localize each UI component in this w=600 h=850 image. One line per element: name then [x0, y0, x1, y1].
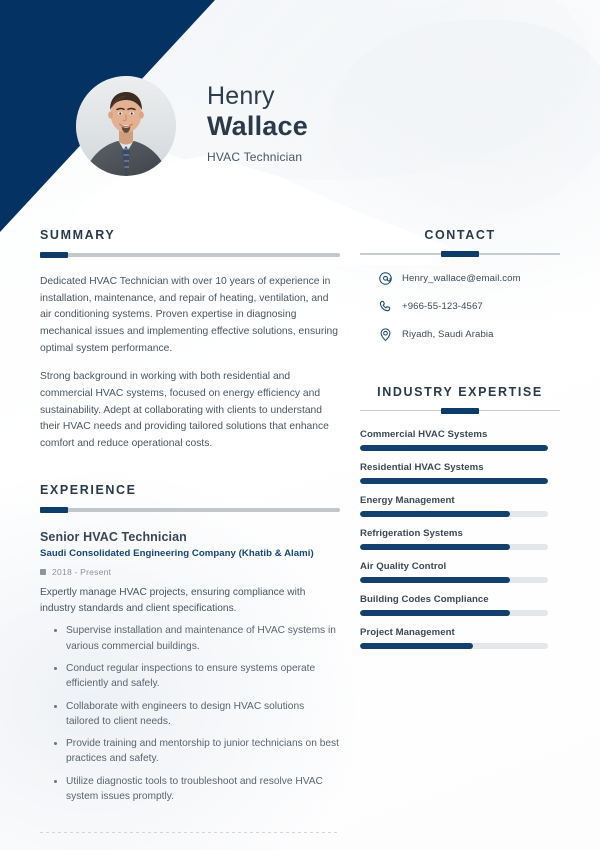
- skill-bar-fill: [360, 610, 510, 616]
- skill-bar-track: [360, 445, 548, 451]
- list-item: Utilize diagnostic tools to troubleshoot…: [66, 774, 340, 805]
- skill-bar-track: [360, 478, 548, 484]
- skill-item: Energy Management: [360, 495, 560, 517]
- skill-bar-fill: [360, 577, 510, 583]
- list-item: Conduct regular inspections to ensure sy…: [66, 661, 340, 692]
- experience-date-row: 2018 - Present: [40, 567, 340, 577]
- experience-divider: [40, 508, 340, 512]
- first-name: Henry: [207, 82, 308, 111]
- avatar: [76, 76, 176, 176]
- skill-bar-fill: [360, 643, 473, 649]
- experience-intro: Expertly manage HVAC projects, ensuring …: [40, 585, 340, 617]
- expertise-section-title: INDUSTRY EXPERTISE: [360, 385, 560, 399]
- contact-value: Henry_wallace@email.com: [402, 273, 521, 284]
- experience-company: Saudi Consolidated Engineering Company (…: [40, 548, 340, 559]
- email-icon: [378, 271, 393, 286]
- skill-label: Energy Management: [360, 495, 560, 506]
- skill-bar-fill: [360, 544, 510, 550]
- summary-divider: [40, 253, 340, 257]
- skill-bar-fill: [360, 511, 510, 517]
- contact-item-location[interactable]: Riyadh, Saudi Arabia: [360, 327, 560, 342]
- summary-paragraph: Dedicated HVAC Technician with over 10 y…: [40, 274, 340, 357]
- skill-label: Commercial HVAC Systems: [360, 429, 560, 440]
- summary-section-title: SUMMARY: [40, 228, 340, 242]
- summary-body: Dedicated HVAC Technician with over 10 y…: [40, 274, 340, 453]
- experience-entry: Senior HVAC Technician Saudi Consolidate…: [40, 530, 340, 834]
- header-swoosh-decoration-2: [330, 20, 600, 220]
- skill-bar-track: [360, 610, 548, 616]
- contact-item-phone[interactable]: +966-55-123-4567: [360, 299, 560, 314]
- experience-role: Senior HVAC Technician: [40, 530, 340, 544]
- skill-bar-fill: [360, 445, 548, 451]
- skill-label: Residential HVAC Systems: [360, 462, 560, 473]
- expertise-section: INDUSTRY EXPERTISE Commercial HVAC Syste…: [360, 385, 560, 650]
- skill-item: Air Quality Control: [360, 561, 560, 583]
- skill-bar-track: [360, 577, 548, 583]
- location-pin-icon: [378, 327, 393, 342]
- skill-item: Project Management: [360, 627, 560, 649]
- contact-value: Riyadh, Saudi Arabia: [402, 329, 494, 340]
- skill-item: Residential HVAC Systems: [360, 462, 560, 484]
- last-name: Wallace: [207, 111, 308, 142]
- skill-bar-track: [360, 511, 548, 517]
- expertise-divider: [360, 410, 560, 412]
- phone-icon: [378, 299, 393, 314]
- skill-item: Refrigeration Systems: [360, 528, 560, 550]
- section-end-divider: [40, 832, 340, 833]
- name-block: Henry Wallace HVAC Technician: [207, 82, 308, 164]
- skill-bar-track: [360, 643, 548, 649]
- calendar-icon: [40, 569, 46, 575]
- list-item: Collaborate with engineers to design HVA…: [66, 699, 340, 730]
- left-column: SUMMARY Dedicated HVAC Technician with o…: [40, 228, 340, 833]
- skill-item: Building Codes Compliance: [360, 594, 560, 616]
- job-title: HVAC Technician: [207, 150, 308, 164]
- skill-list: Commercial HVAC Systems Residential HVAC…: [360, 429, 560, 649]
- contact-divider: [360, 253, 560, 255]
- resume-page: Henry Wallace HVAC Technician SUMMARY De…: [0, 0, 600, 850]
- list-item: Supervise installation and maintenance o…: [66, 623, 340, 654]
- summary-paragraph: Strong background in working with both r…: [40, 369, 340, 452]
- skill-label: Air Quality Control: [360, 561, 560, 572]
- skill-bar-track: [360, 544, 548, 550]
- experience-section-title: EXPERIENCE: [40, 483, 340, 497]
- skill-label: Building Codes Compliance: [360, 594, 560, 605]
- contact-item-email[interactable]: Henry_wallace@email.com: [360, 271, 560, 286]
- skill-bar-fill: [360, 478, 548, 484]
- right-column: CONTACT Henry_wallace@email.com: [360, 228, 560, 649]
- experience-date: 2018 - Present: [52, 567, 111, 577]
- contact-value: +966-55-123-4567: [402, 301, 483, 312]
- contact-list: Henry_wallace@email.com +966-55-123-4567: [360, 271, 560, 342]
- skill-item: Commercial HVAC Systems: [360, 429, 560, 451]
- skill-label: Refrigeration Systems: [360, 528, 560, 539]
- experience-bullet-list: Supervise installation and maintenance o…: [40, 623, 340, 804]
- contact-section-title: CONTACT: [360, 228, 560, 242]
- skill-label: Project Management: [360, 627, 560, 638]
- list-item: Provide training and mentorship to junio…: [66, 736, 340, 767]
